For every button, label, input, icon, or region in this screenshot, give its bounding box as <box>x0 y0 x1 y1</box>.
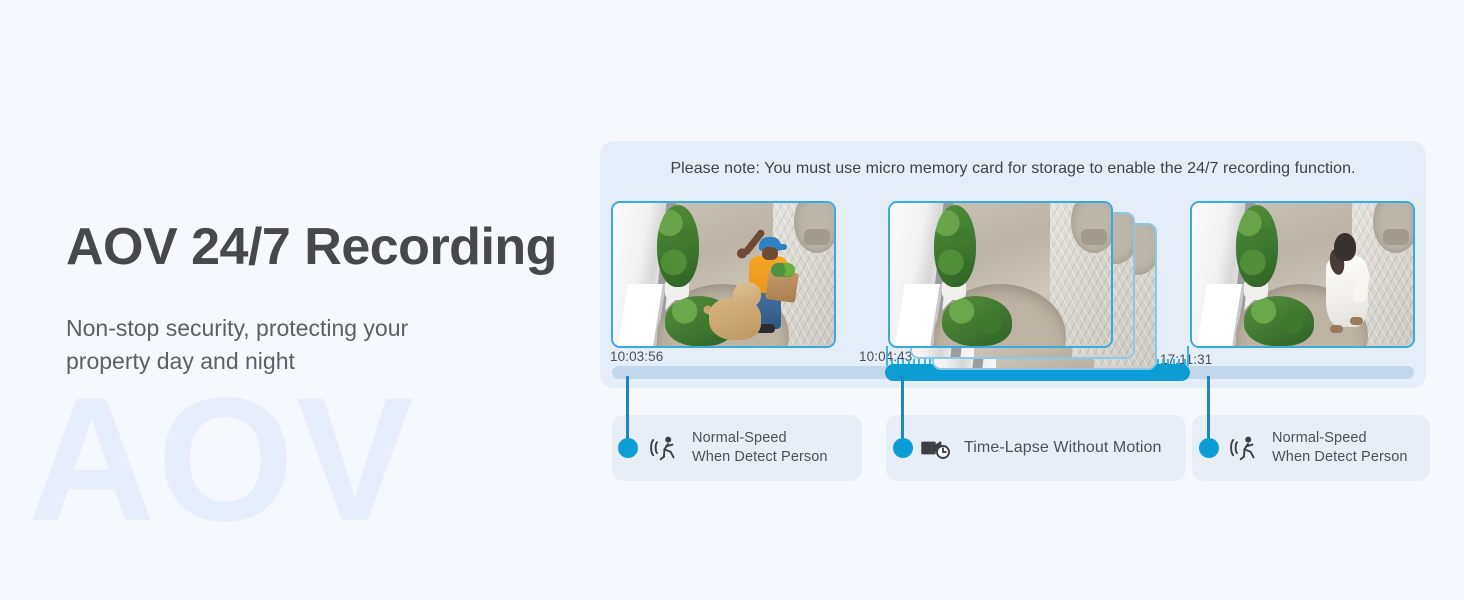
callout-label: Normal-Speed When Detect Person <box>692 429 828 466</box>
clip-thumbnail-person-delivery[interactable] <box>611 201 836 348</box>
scene-artwork <box>1192 203 1413 346</box>
connector-dot-3 <box>1199 438 1219 458</box>
timestamp-clip-1: 10:03:56 <box>610 349 663 364</box>
figure-dog <box>709 282 771 344</box>
storage-note: Please note: You must use micro memory c… <box>600 160 1426 178</box>
timeline-tick-major <box>886 346 888 366</box>
recording-panel: Please note: You must use micro memory c… <box>600 141 1426 388</box>
clip-slot-1 <box>611 201 836 348</box>
clip-thumbnail-person-walking[interactable] <box>1190 201 1415 348</box>
clip-thumbnail-row <box>600 201 1426 348</box>
page-title: AOV 24/7 Recording <box>66 218 606 276</box>
person-motion-detect-icon <box>1226 432 1260 464</box>
camera-timelapse-icon <box>920 435 952 461</box>
page-subtitle: Non-stop security, protecting your prope… <box>66 312 496 377</box>
connector-dot-1 <box>618 438 638 458</box>
timeline-tick-major <box>1187 346 1189 366</box>
connector-dot-2 <box>893 438 913 458</box>
scene-artwork <box>890 203 1111 346</box>
scene-artwork <box>613 203 834 346</box>
callout-time-lapse[interactable]: Time-Lapse Without Motion <box>886 415 1186 481</box>
callout-normal-speed-2[interactable]: Normal-Speed When Detect Person <box>1192 415 1430 481</box>
callout-label: Normal-Speed When Detect Person <box>1272 429 1408 466</box>
hero-copy: AOV 24/7 Recording Non-stop security, pr… <box>66 218 606 378</box>
callout-normal-speed-1[interactable]: Normal-Speed When Detect Person <box>612 415 862 481</box>
aov-watermark: AOV <box>28 372 415 548</box>
figure-walking-woman <box>1320 233 1378 339</box>
clip-slot-3 <box>1190 201 1415 348</box>
callout-label: Time-Lapse Without Motion <box>964 438 1162 458</box>
person-motion-detect-icon <box>646 432 680 464</box>
clip-thumbnail-empty-driveway[interactable] <box>888 201 1113 348</box>
clip-slot-2 <box>888 201 1113 348</box>
